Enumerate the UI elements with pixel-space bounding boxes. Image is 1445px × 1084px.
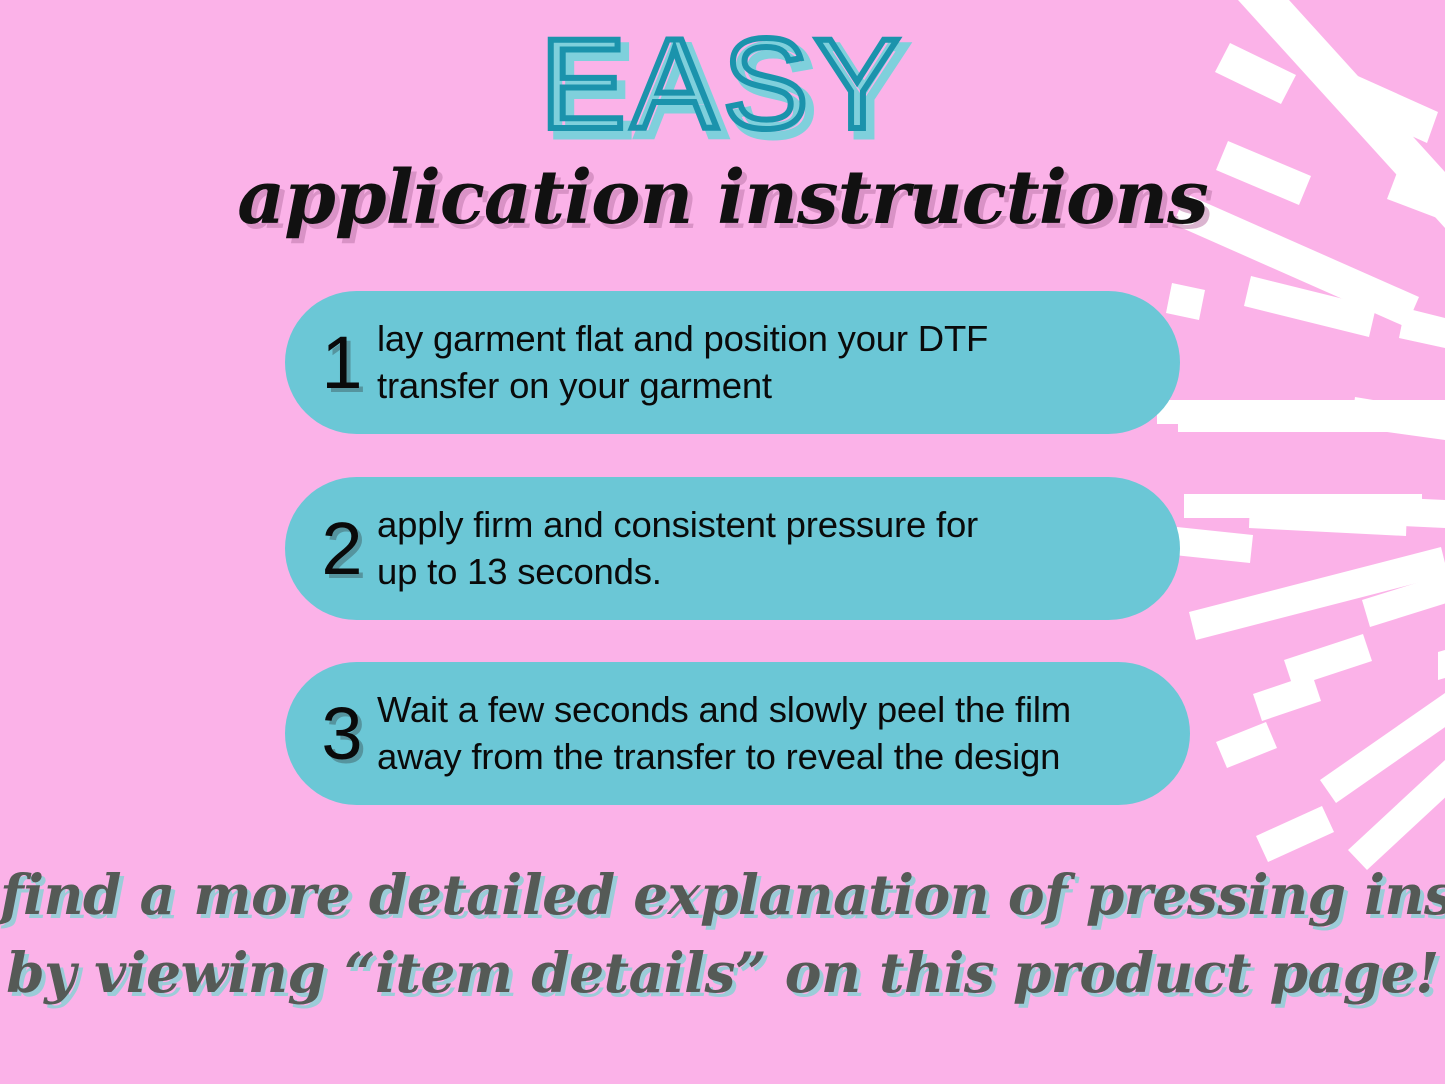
step-text-1-line-2: transfer on your garment	[377, 363, 1160, 410]
step-text-2-line-2: up to 13 seconds.	[377, 549, 1160, 596]
subtitle-application-instructions: application instructions	[0, 160, 1445, 238]
step-text-1: lay garment flat and position your DTF t…	[377, 316, 1180, 409]
step-number-2: 2	[311, 512, 373, 586]
footer-line-2: by viewing “item details” on this produc…	[0, 934, 1445, 1012]
step-item-3: 3 Wait a few seconds and slowly peel the…	[285, 662, 1190, 805]
step-item-2: 2 apply firm and consistent pressure for…	[285, 477, 1180, 620]
step-item-1: 1 lay garment flat and position your DTF…	[285, 291, 1180, 434]
step-text-1-line-1: lay garment flat and position your DTF	[377, 316, 1160, 363]
step-number-3: 3	[311, 697, 373, 771]
headline-easy-svg: EASY EASY	[533, 18, 913, 158]
step-text-3: Wait a few seconds and slowly peel the f…	[377, 687, 1190, 780]
step-text-3-line-2: away from the transfer to reveal the des…	[377, 734, 1170, 781]
footer-note: find a more detailed explanation of pres…	[0, 856, 1445, 1012]
step-text-2-line-1: apply firm and consistent pressure for	[377, 502, 1160, 549]
headline-easy-outline: EASY	[540, 18, 906, 156]
poster-canvas: EASY EASY application instructions 1 lay…	[0, 0, 1445, 1084]
footer-line-1: find a more detailed explanation of pres…	[0, 856, 1445, 934]
step-number-1: 1	[311, 326, 373, 400]
headline-easy: EASY EASY	[0, 18, 1445, 158]
step-text-3-line-1: Wait a few seconds and slowly peel the f…	[377, 687, 1170, 734]
step-text-2: apply firm and consistent pressure for u…	[377, 502, 1180, 595]
